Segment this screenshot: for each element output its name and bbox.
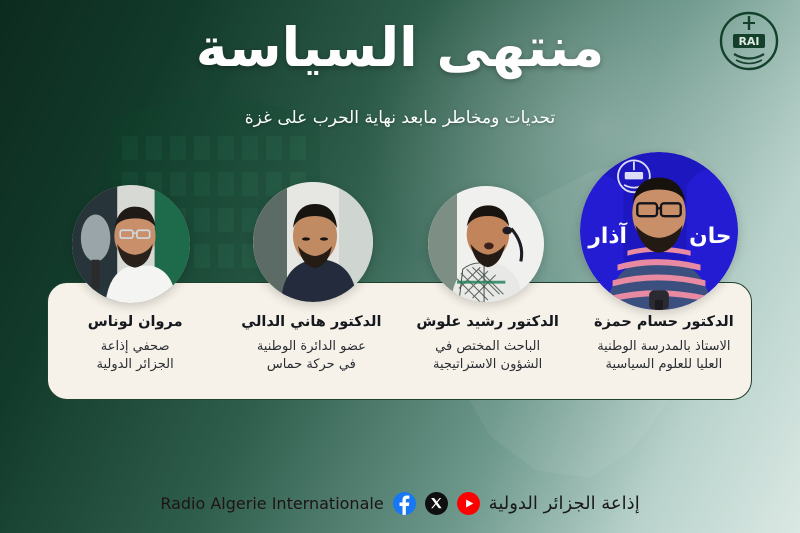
panelist-role: الباحث المختص في الشؤون الاستراتيجية bbox=[400, 338, 576, 372]
footer-latin-label: Radio Algerie Internationale bbox=[160, 494, 383, 513]
facebook-icon[interactable] bbox=[393, 492, 416, 515]
panelist-role: صحفي إذاعة الجزائر الدولية bbox=[47, 338, 223, 372]
panelist-role: عضو الدائرة الوطنية في حركة حماس bbox=[223, 338, 399, 372]
youtube-icon[interactable] bbox=[457, 492, 480, 515]
footer-arabic-label: إذاعة الجزائر الدولية bbox=[489, 493, 640, 514]
poster-root: RAI منتهى السياسة تحديات ومخاطر مابعد نه… bbox=[0, 0, 800, 533]
poster-title: منتهى السياسة bbox=[0, 14, 800, 82]
x-twitter-icon[interactable] bbox=[425, 492, 448, 515]
panelist-captions: مروان لوناس صحفي إذاعة الجزائر الدولية ا… bbox=[47, 282, 752, 400]
panelist-column-0: الدكتور حسام حمزة الاستاذ بالمدرسة الوطن… bbox=[576, 282, 752, 400]
svg-text:آذار: آذار bbox=[587, 221, 627, 249]
panelist-role-line2: الشؤون الاستراتيجية bbox=[433, 357, 542, 372]
panelist-column-1: الدكتور رشيد علوش الباحث المختص في الشؤو… bbox=[400, 282, 576, 400]
footer-bar: إذاعة الجزائر الدولية Radio Algerie Inte… bbox=[0, 492, 800, 515]
panelist-name: الدكتور رشيد علوش bbox=[400, 314, 576, 331]
panelist-role-line2: العليا للعلوم السياسية bbox=[606, 357, 723, 372]
panelist-role-line1: الاستاذ بالمدرسة الوطنية bbox=[597, 339, 730, 354]
poster-subtitle: تحديات ومخاطر مابعد نهاية الحرب على غزة bbox=[0, 108, 800, 128]
panelist-name: الدكتور حسام حمزة bbox=[576, 314, 752, 331]
panelist-column-3: مروان لوناس صحفي إذاعة الجزائر الدولية bbox=[47, 282, 223, 400]
panelist-role-line2: الجزائر الدولية bbox=[97, 357, 174, 372]
panelist-role-line1: الباحث المختص في bbox=[435, 339, 540, 354]
background-building-watermark bbox=[0, 60, 320, 290]
panelist-name: مروان لوناس bbox=[47, 314, 223, 331]
panelist-role-line2: في حركة حماس bbox=[267, 357, 356, 372]
svg-text:حان: حان bbox=[689, 224, 731, 249]
panelist-name: الدكتور هاني الدالي bbox=[223, 314, 399, 331]
panelist-role-line1: صحفي إذاعة bbox=[101, 339, 170, 354]
panelist-role: الاستاذ بالمدرسة الوطنية العليا للعلوم ا… bbox=[576, 338, 752, 372]
panelist-role-line1: عضو الدائرة الوطنية bbox=[257, 339, 366, 354]
panelist-column-2: الدكتور هاني الدالي عضو الدائرة الوطنية … bbox=[223, 282, 399, 400]
